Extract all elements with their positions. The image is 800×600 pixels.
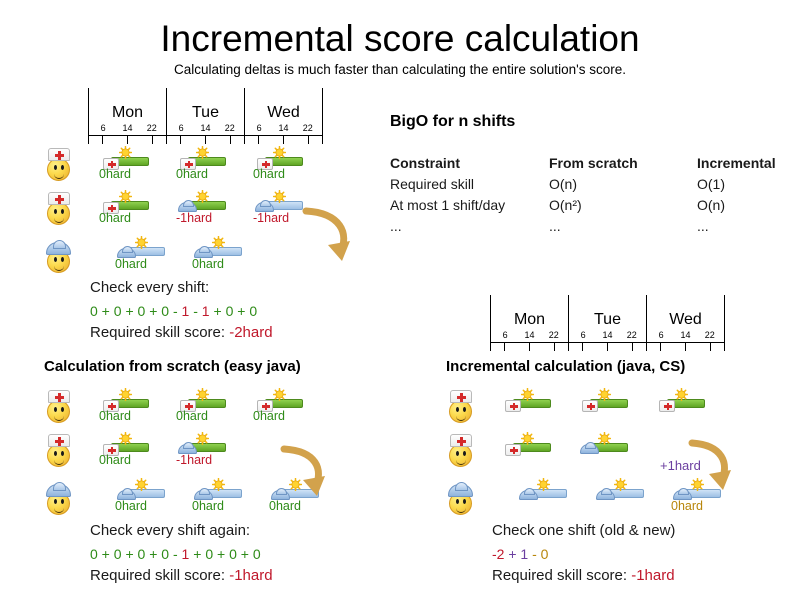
calc-term: 0: [541, 546, 549, 562]
calc-term: 0: [253, 546, 261, 562]
shift-score-label: 0hard: [176, 409, 232, 423]
calc-term: +: [145, 546, 161, 562]
day-label: Mon: [89, 103, 166, 123]
hour-labels: 61422: [569, 330, 646, 341]
calc-term: +: [210, 303, 226, 319]
bigo-cell: O(1): [697, 174, 800, 195]
sun-icon: [614, 478, 627, 491]
sun-icon: [212, 236, 225, 249]
sun-icon: [119, 146, 132, 159]
sun-icon: [119, 190, 132, 203]
shift-score-label: 0hard: [115, 499, 171, 513]
schedule-grid-top: 0hard0hard0hard0hard-1hard-1hard0hard0ha…: [44, 146, 344, 272]
bigo-cell: Required skill: [390, 174, 549, 195]
bottom-right-score-value: -1hard: [631, 567, 674, 584]
calc-term: +: [504, 546, 520, 562]
hour-label: 22: [222, 123, 238, 134]
calc-term: 0: [205, 546, 213, 562]
top-score-line: Required skill score: -2hard: [90, 322, 273, 344]
calc-term: +: [213, 546, 229, 562]
bigo-row: Required skillO(n)O(1): [390, 174, 800, 195]
nurse-cap-icon: [450, 390, 472, 403]
hour-tick: [308, 136, 309, 144]
bigo-table: ConstraintFrom scratchIncrementalRequire…: [390, 153, 800, 237]
top-score-label: Required skill score:: [90, 324, 229, 341]
hour-label: 6: [95, 123, 111, 134]
schedule-axis: Mon61422Tue61422Wed61422: [490, 295, 725, 351]
calc-term: 0: [90, 546, 98, 562]
calc-term: 0: [229, 546, 237, 562]
shift-chip[interactable]: 0hard: [99, 190, 155, 224]
day-label: Tue: [167, 103, 244, 123]
shift-score-label: 0hard: [192, 499, 248, 513]
day-column-wed: Wed61422: [647, 310, 724, 351]
hour-label: 22: [546, 330, 562, 341]
calc-term: -: [528, 546, 540, 562]
shift-chip[interactable]: 0hard: [176, 388, 232, 422]
avatar-face: [47, 158, 70, 181]
sun-icon: [273, 146, 286, 159]
hour-label: 22: [300, 123, 316, 134]
shift-score-label: 0hard: [269, 499, 325, 513]
bottom-left-caption: Check every shift again:: [90, 520, 250, 542]
hour-label: 14: [677, 330, 693, 341]
sun-icon: [598, 388, 611, 401]
schedule-header-top: Mon61422Tue61422Wed61422: [88, 88, 323, 144]
avatar-nurse-2: [446, 434, 476, 468]
bottom-right-calculation: -2 + 1 - 0: [492, 543, 548, 565]
hour-ticks: [491, 343, 568, 351]
sun-icon: [273, 388, 286, 401]
hour-tick: [607, 343, 608, 351]
bigo-cell: O(n): [697, 195, 800, 216]
shift-chip[interactable]: [501, 432, 557, 466]
move-arrow-icon-bottom-left: [278, 443, 334, 501]
calc-term: +: [98, 303, 114, 319]
sun-icon: [537, 478, 550, 491]
shift-score-label: 0hard: [671, 499, 727, 513]
bigo-cell: ...: [549, 216, 697, 237]
day-label: Tue: [569, 310, 646, 330]
bottom-left-score-label: Required skill score:: [90, 567, 229, 584]
shift-chip[interactable]: [655, 388, 711, 422]
sun-icon: [521, 432, 534, 445]
avatar-face: [449, 444, 472, 467]
calc-term: 0: [249, 303, 257, 319]
day-column-mon: Mon61422: [491, 310, 568, 351]
hard-hat-icon: [46, 242, 71, 255]
bigo-title: BigO for n shifts: [390, 113, 515, 131]
bottom-left-calculation: 0 + 0 + 0 + 0 - 1 + 0 + 0 + 0: [90, 543, 261, 565]
axis-divider: [322, 88, 323, 144]
schedule-header-bottom-right: Mon61422Tue61422Wed61422: [490, 295, 725, 351]
bigo-header-row: ConstraintFrom scratchIncremental: [390, 153, 800, 174]
avatar-nurse-2: [44, 434, 74, 468]
sun-icon: [521, 388, 534, 401]
hard-hat-icon: [580, 444, 599, 454]
hour-label: 6: [173, 123, 189, 134]
hour-tick: [230, 136, 231, 144]
bottom-right-caption: Check one shift (old & new): [492, 520, 675, 542]
avatar-face: [47, 202, 70, 225]
schedule-axis: Mon61422Tue61422Wed61422: [88, 88, 323, 144]
shift-chip[interactable]: [578, 388, 634, 422]
shift-score-label: 0hard: [253, 409, 309, 423]
day-column-tue: Tue61422: [569, 310, 646, 351]
day-label: Mon: [491, 310, 568, 330]
shift-chip[interactable]: 0hard: [253, 146, 309, 180]
bottom-right-score-line: Required skill score: -1hard: [492, 565, 675, 587]
hour-labels: 61422: [89, 123, 166, 134]
avatar-nurse-1: [44, 148, 74, 182]
hour-tick: [632, 343, 633, 351]
hour-tick: [529, 343, 530, 351]
hour-ticks: [89, 136, 166, 144]
sun-icon: [135, 478, 148, 491]
hour-tick: [554, 343, 555, 351]
bigo-row: .........: [390, 216, 800, 237]
shift-chip[interactable]: [578, 432, 634, 466]
shift-chip[interactable]: 0hard: [99, 388, 155, 422]
bigo-column-header: Incremental: [697, 153, 800, 174]
bigo-cell: At most 1 shift/day: [390, 195, 549, 216]
hour-label: 14: [521, 330, 537, 341]
sun-icon: [598, 432, 611, 445]
shift-score-label: 0hard: [253, 167, 309, 181]
bigo-column-header: Constraint: [390, 153, 549, 174]
hour-tick: [283, 136, 284, 144]
page-subtitle: Calculating deltas is much faster than c…: [0, 62, 800, 77]
hour-label: 14: [275, 123, 291, 134]
bigo-cell: O(n²): [549, 195, 697, 216]
shift-score-label: -1hard: [176, 453, 232, 467]
hour-tick: [258, 136, 259, 144]
hour-label: 14: [119, 123, 135, 134]
nurse-cap-icon: [48, 192, 70, 205]
nurse-cap-icon: [582, 400, 598, 412]
shift-score-label: 0hard: [99, 211, 155, 225]
bigo-row: At most 1 shift/dayO(n²)O(n): [390, 195, 800, 216]
hour-label: 22: [624, 330, 640, 341]
top-score-value: -2hard: [229, 324, 272, 341]
calc-term: +: [98, 546, 114, 562]
calc-term: +: [233, 303, 249, 319]
nurse-cap-icon: [505, 400, 521, 412]
hour-label: 14: [599, 330, 615, 341]
avatar-builder-1: [44, 240, 74, 274]
shift-chip[interactable]: 0hard: [192, 236, 248, 270]
shift-chip[interactable]: 0hard: [192, 478, 248, 512]
shift-chip[interactable]: [517, 478, 573, 512]
avatar-face: [47, 400, 70, 423]
calc-term: 0: [161, 303, 169, 319]
shift-chip[interactable]: 0hard: [253, 388, 309, 422]
top-caption: Check every shift:: [90, 277, 209, 299]
calc-term: +: [237, 546, 253, 562]
shift-chip[interactable]: 0hard: [99, 432, 155, 466]
sun-icon: [196, 190, 209, 203]
avatar-builder-1: [446, 482, 476, 516]
shift-chip[interactable]: 0hard: [115, 478, 171, 512]
nurse-cap-icon: [659, 400, 675, 412]
day-label: Wed: [647, 310, 724, 330]
sun-icon: [119, 432, 132, 445]
hour-ticks: [245, 136, 322, 144]
calc-term: 0: [114, 303, 122, 319]
nurse-cap-icon: [450, 434, 472, 447]
hour-tick: [685, 343, 686, 351]
shift-chip[interactable]: 0hard: [99, 146, 155, 180]
hard-hat-icon: [519, 490, 538, 500]
day-column-mon: Mon61422: [89, 103, 166, 144]
bigo-cell: O(n): [549, 174, 697, 195]
hour-labels: 61422: [491, 330, 568, 341]
sun-icon: [212, 478, 225, 491]
axis-divider: [724, 295, 725, 351]
calc-term: -2: [492, 546, 504, 562]
hour-labels: 61422: [647, 330, 724, 341]
day-column-wed: Wed61422: [245, 103, 322, 144]
bigo-cell: ...: [390, 216, 549, 237]
sun-icon: [119, 388, 132, 401]
hour-tick: [127, 136, 128, 144]
calc-term: 0: [161, 546, 169, 562]
nurse-cap-icon: [48, 434, 70, 447]
sun-icon: [196, 432, 209, 445]
hour-tick: [152, 136, 153, 144]
sun-icon: [135, 236, 148, 249]
avatar-face: [47, 444, 70, 467]
avatar-nurse-2: [44, 192, 74, 226]
page-title: Incremental score calculation: [0, 18, 800, 60]
shift-score-label: -1hard: [176, 211, 232, 225]
hard-hat-icon: [46, 484, 71, 497]
avatar-builder-1: [44, 482, 74, 516]
hour-labels: 61422: [167, 123, 244, 134]
shift-score-label: 0hard: [99, 409, 155, 423]
avatar-face: [449, 400, 472, 423]
hour-tick: [710, 343, 711, 351]
bigo-column-header: From scratch: [549, 153, 697, 174]
hour-tick: [582, 343, 583, 351]
calc-term: -: [169, 303, 181, 319]
calc-term: -: [189, 303, 201, 319]
sun-icon: [675, 388, 688, 401]
hour-tick: [102, 136, 103, 144]
shift-score-label: 0hard: [176, 167, 232, 181]
hour-label: 6: [653, 330, 669, 341]
sun-icon: [273, 190, 286, 203]
shift-chip[interactable]: -1hard: [176, 190, 232, 224]
day-column-tue: Tue61422: [167, 103, 244, 144]
shift-chip[interactable]: 0hard: [115, 236, 171, 270]
calc-term: 1: [202, 303, 210, 319]
hour-label: 6: [251, 123, 267, 134]
hour-tick: [205, 136, 206, 144]
shift-chip[interactable]: [501, 388, 557, 422]
move-arrow-icon-bottom-right: [686, 437, 738, 495]
hour-ticks: [167, 136, 244, 144]
hard-hat-icon: [596, 490, 615, 500]
shift-chip[interactable]: [594, 478, 650, 512]
bigo-cell: ...: [697, 216, 800, 237]
hour-label: 14: [197, 123, 213, 134]
nurse-cap-icon: [48, 390, 70, 403]
hour-tick: [504, 343, 505, 351]
top-calculation: 0 + 0 + 0 + 0 - 1 - 1 + 0 + 0: [90, 300, 257, 322]
calc-term: 0: [90, 303, 98, 319]
hour-label: 6: [575, 330, 591, 341]
bottom-left-score-line: Required skill score: -1hard: [90, 565, 273, 587]
sun-icon: [196, 146, 209, 159]
nurse-cap-icon: [505, 444, 521, 456]
move-arrow-icon-top: [300, 205, 360, 267]
day-label: Wed: [245, 103, 322, 123]
hour-ticks: [647, 343, 724, 351]
hour-label: 22: [144, 123, 160, 134]
bottom-left-score-value: -1hard: [229, 567, 272, 584]
shift-chip[interactable]: 0hard: [176, 146, 232, 180]
calc-term: +: [145, 303, 161, 319]
hour-label: 6: [497, 330, 513, 341]
shift-score-label: 0hard: [192, 257, 248, 271]
hour-labels: 61422: [245, 123, 322, 134]
bottom-left-heading: Calculation from scratch (easy java): [44, 358, 301, 375]
shift-chip[interactable]: -1hard: [176, 432, 232, 466]
hard-hat-icon: [448, 484, 473, 497]
calc-term: +: [122, 546, 138, 562]
nurse-cap-icon: [48, 148, 70, 161]
avatar-nurse-1: [44, 390, 74, 424]
shift-score-label: 0hard: [99, 167, 155, 181]
hour-label: 22: [702, 330, 718, 341]
avatar-nurse-1: [446, 390, 476, 424]
bottom-right-heading: Incremental calculation (java, CS): [446, 358, 685, 375]
calc-term: +: [189, 546, 205, 562]
sun-icon: [196, 388, 209, 401]
calc-term: 0: [114, 546, 122, 562]
calc-term: +: [122, 303, 138, 319]
shift-score-label: 0hard: [99, 453, 155, 467]
shift-score-label: 0hard: [115, 257, 171, 271]
hour-tick: [660, 343, 661, 351]
hour-ticks: [569, 343, 646, 351]
calc-term: -: [169, 546, 181, 562]
bottom-right-score-label: Required skill score:: [492, 567, 631, 584]
hour-tick: [180, 136, 181, 144]
